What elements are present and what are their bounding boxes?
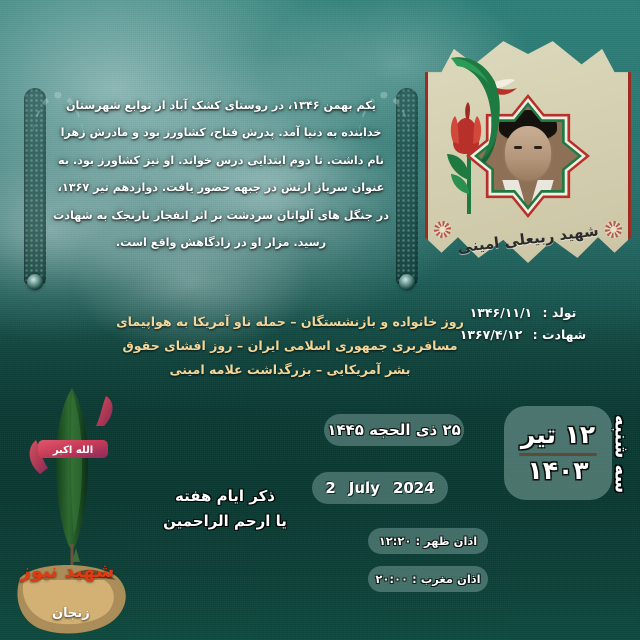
weekly-zekr-title: ذکر ایام هفته [130,484,320,509]
face-shape [505,126,551,180]
weekday-label: سه شنبه [608,408,634,500]
birth-date-value: ۱۳۴۶/۱۱/۱ [470,305,533,320]
gregorian-date-pill: 2 July 2024 [312,472,448,504]
daily-events-text: روز خانواده و بازنشستگان – حمله ناو آمری… [110,310,470,383]
azan-maghrib-value: ۲۰:۰۰ [375,572,408,586]
site-logo[interactable]: شهید نیوز زنجان [4,548,146,636]
ornamental-column-left-icon [24,88,46,284]
gregorian-month: July [349,479,380,497]
azan-noon-label: اذان ظهر : [415,534,477,548]
weekly-zekr-block: ذکر ایام هفته یا ارحم الراحمین [130,484,320,534]
gregorian-year: 2024 [393,479,435,497]
logo-name: شهید نیوز [20,560,114,582]
cypress-ribbon-text: الله اکبر [52,445,93,456]
logo-city: زنجان [52,606,90,621]
eye-left [514,146,522,149]
hijri-date-pill: ۲۵ ذی الحجه ۱۴۴۵ [324,414,464,446]
azan-noon-pill: اذان ظهر : ۱۲:۲۰ [368,528,488,554]
portrait-plaque: شهید ربیعلی امینی [425,36,631,294]
azan-noon-value: ۱۲:۲۰ [379,534,412,548]
jalali-date-card: ۱۲ تیر ۱۴۰۳ [504,406,612,500]
azan-maghrib-label: اذان مغرب : [412,572,481,586]
weekly-zekr-value: یا ارحم الراحمین [130,509,320,534]
memorial-calendar-poster: یکم بهمن ۱۳۴۶، در روستای کشک آباد از توا… [0,0,640,640]
rosette-left-icon [434,221,451,238]
star-photo-frame [466,94,590,218]
eye-right [534,146,542,149]
birth-date-label: تولد : [543,305,577,320]
azan-maghrib-pill: اذان مغرب : ۲۰:۰۰ [368,566,488,592]
martyrdom-date-label: شهادت : [533,327,587,342]
jalali-year: ۱۴۰۳ [527,458,588,484]
gregorian-day: 2 [325,479,335,497]
biography-text: یکم بهمن ۱۳۴۶، در روستای کشک آباد از توا… [52,92,390,257]
ornamental-column-right-icon [396,88,418,284]
jalali-day-month: ۱۲ تیر [521,422,595,448]
biography-panel: یکم بهمن ۱۳۴۶، در روستای کشک آباد از توا… [30,88,412,284]
